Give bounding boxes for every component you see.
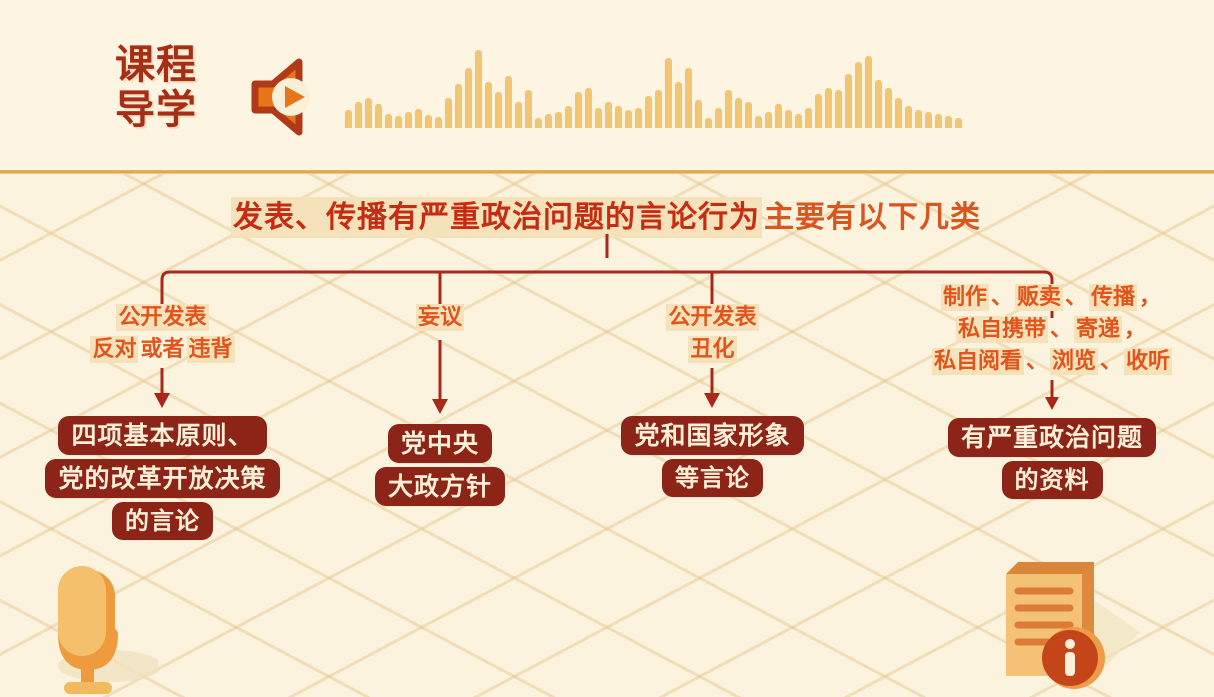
waveform-bar — [775, 104, 782, 128]
waveform-bar — [385, 114, 392, 128]
waveform-bar — [725, 90, 732, 128]
branch-4-label-line-1-seg-3: 贩卖 — [1015, 284, 1063, 311]
waveform-bar — [435, 117, 442, 128]
document-info-icon — [990, 546, 1150, 697]
waveform-bar — [495, 92, 502, 128]
waveform-bar — [795, 114, 802, 128]
branch-1-arrow — [10, 366, 315, 410]
waveform-bar — [545, 114, 552, 128]
branch-1-label: 公开发表 反对或者违背 — [10, 302, 315, 366]
branch-4-pill-2: 的资料 — [1002, 461, 1103, 499]
waveform-bar — [635, 108, 642, 128]
waveform-bar — [745, 102, 752, 128]
branch-4-label-line-3-seg-1: 私自阅看 — [932, 348, 1024, 375]
branch-4-label-line-2-seg-3: 寄递 — [1074, 316, 1122, 343]
waveform-bar — [475, 50, 482, 128]
branch-1-label-line-1-seg-1: 公开发表 — [116, 304, 208, 331]
branch-3-label: 公开发表 丑化 — [600, 302, 825, 366]
branch-4-label-line-1-seg-1: 制作 — [941, 284, 989, 311]
branch-2-pill-2: 大政方针 — [375, 467, 505, 506]
waveform-bar — [705, 118, 712, 128]
waveform-bar — [525, 90, 532, 128]
waveform-bar — [825, 88, 832, 128]
branch-3-pills: 党和国家形象 等言论 — [600, 414, 825, 499]
waveform-bar — [655, 90, 662, 128]
waveform-bar — [395, 116, 402, 128]
branch-1: 公开发表 反对或者违背 四项基本原则、 党的改革开放决策 的言论 — [10, 302, 315, 542]
waveform-bar — [445, 98, 452, 128]
waveform-bar — [925, 112, 932, 128]
logo-line-2: 导学 — [115, 90, 225, 130]
branch-2-pill-1: 党中央 — [388, 424, 492, 463]
branch-3-pill-2: 等言论 — [662, 459, 763, 497]
audio-waveform — [345, 18, 1145, 128]
branch-4-pills: 有严重政治问题 的资料 — [890, 416, 1214, 501]
waveform-bar — [915, 110, 922, 128]
branch-2-label: 妄议 — [325, 302, 555, 334]
waveform-bar — [945, 116, 952, 128]
speaker-play-icon — [243, 52, 329, 140]
branch-1-pill-1: 四项基本原则、 — [58, 416, 266, 455]
course-guide-logo: 课程 导学 — [115, 45, 225, 135]
waveform-bar — [895, 98, 902, 128]
waveform-bar — [595, 108, 602, 128]
waveform-bar — [905, 106, 912, 128]
branch-4-label-line-1-seg-4: 、 — [1063, 284, 1089, 311]
waveform-bar — [685, 68, 692, 128]
waveform-bar — [425, 115, 432, 128]
branch-3-pill-1: 党和国家形象 — [621, 416, 803, 455]
waveform-bar — [605, 102, 612, 128]
branch-2: 妄议 党中央 大政方针 — [325, 302, 555, 508]
waveform-bar — [755, 116, 762, 128]
waveform-bar — [575, 92, 582, 128]
branch-1-label-line-2-seg-3: 违背 — [187, 336, 235, 363]
waveform-bar — [805, 108, 812, 128]
waveform-bar — [665, 58, 672, 128]
branch-3-label-line-2-seg-1: 丑化 — [688, 336, 736, 363]
waveform-bar — [735, 98, 742, 128]
waveform-bar — [345, 110, 352, 128]
branch-1-label-line-2-seg-1: 反对 — [90, 336, 138, 363]
waveform-bar — [695, 100, 702, 128]
waveform-bar — [615, 106, 622, 128]
branch-2-label-line-1-seg-1: 妄议 — [416, 304, 464, 331]
waveform-bar — [625, 110, 632, 128]
branch-2-arrow — [325, 338, 555, 418]
branch-4-pill-1: 有严重政治问题 — [948, 418, 1156, 457]
waveform-bar — [865, 56, 872, 128]
waveform-bar — [885, 88, 892, 128]
waveform-bar — [645, 96, 652, 128]
main-content: 发表、传播有严重政治问题的言论行为主要有以下几类 公开发表 反对或者违背 — [0, 174, 1214, 697]
branch-3: 公开发表 丑化 党和国家形象 等言论 — [600, 302, 825, 499]
waveform-bar — [675, 82, 682, 128]
waveform-bar — [815, 94, 822, 128]
waveform-bar — [765, 112, 772, 128]
branch-3-arrow — [600, 366, 825, 410]
branch-4-label-line-3-seg-3: 浏览 — [1050, 348, 1098, 375]
branch-4-label-line-1-seg-2: 、 — [989, 284, 1015, 311]
waveform-bar — [875, 80, 882, 128]
branch-1-pill-2: 党的改革开放决策 — [45, 459, 279, 498]
branch-1-label-line-2-seg-2: 或者 — [138, 336, 186, 363]
waveform-bar — [415, 109, 422, 128]
waveform-bar — [955, 118, 962, 128]
branch-4-label-line-2-seg-1: 私自携带 — [956, 316, 1048, 343]
waveform-bar — [535, 118, 542, 128]
branch-4: 制作、贩卖、传播， 私自携带、寄递， 私自阅看、浏览、收听 有严重政治问题 的资… — [890, 282, 1214, 501]
waveform-bar — [585, 88, 592, 128]
branch-4-label-line-1-seg-5: 传播 — [1089, 284, 1137, 311]
branch-4-label-line-2-seg-4: ， — [1122, 316, 1148, 343]
branch-4-label-line-2-seg-2: 、 — [1048, 316, 1074, 343]
waveform-bar — [565, 106, 572, 128]
waveform-bar — [845, 74, 852, 128]
waveform-bar — [455, 84, 462, 128]
waveform-bar — [465, 68, 472, 128]
branch-4-label-line-3-seg-4: 、 — [1098, 348, 1124, 375]
waveform-bar — [935, 114, 942, 128]
branch-1-pills: 四项基本原则、 党的改革开放决策 的言论 — [10, 414, 315, 543]
branch-2-pills: 党中央 大政方针 — [325, 422, 555, 509]
branch-4-label-line-3-seg-5: 收听 — [1124, 348, 1172, 375]
branch-1-pill-3: 的言论 — [112, 502, 213, 540]
waveform-bar — [855, 62, 862, 128]
waveform-bar — [365, 98, 372, 128]
logo-line-1: 课程 — [115, 45, 225, 85]
waveform-bar — [355, 102, 362, 128]
waveform-bar — [715, 108, 722, 128]
waveform-bar — [485, 82, 492, 128]
waveform-bar — [515, 102, 522, 128]
waveform-bar — [785, 110, 792, 128]
waveform-bar — [505, 76, 512, 128]
waveform-bar — [375, 104, 382, 128]
waveform-bar — [835, 90, 842, 128]
microphone-icon — [18, 560, 158, 697]
branch-4-label: 制作、贩卖、传播， 私自携带、寄递， 私自阅看、浏览、收听 — [890, 282, 1214, 378]
branch-4-label-line-3-seg-2: 、 — [1024, 348, 1050, 375]
branch-4-arrow — [890, 378, 1214, 412]
infographic-root: 课程 导学 发表、传播有严重政治问题的言论行为主要有以下几类 — [0, 0, 1214, 697]
waveform-bar — [405, 112, 412, 128]
waveform-bar — [555, 112, 562, 128]
branch-3-label-line-1-seg-1: 公开发表 — [666, 304, 758, 331]
branch-4-label-line-1-seg-6: ， — [1137, 284, 1163, 311]
header-banner: 课程 导学 — [0, 0, 1214, 173]
